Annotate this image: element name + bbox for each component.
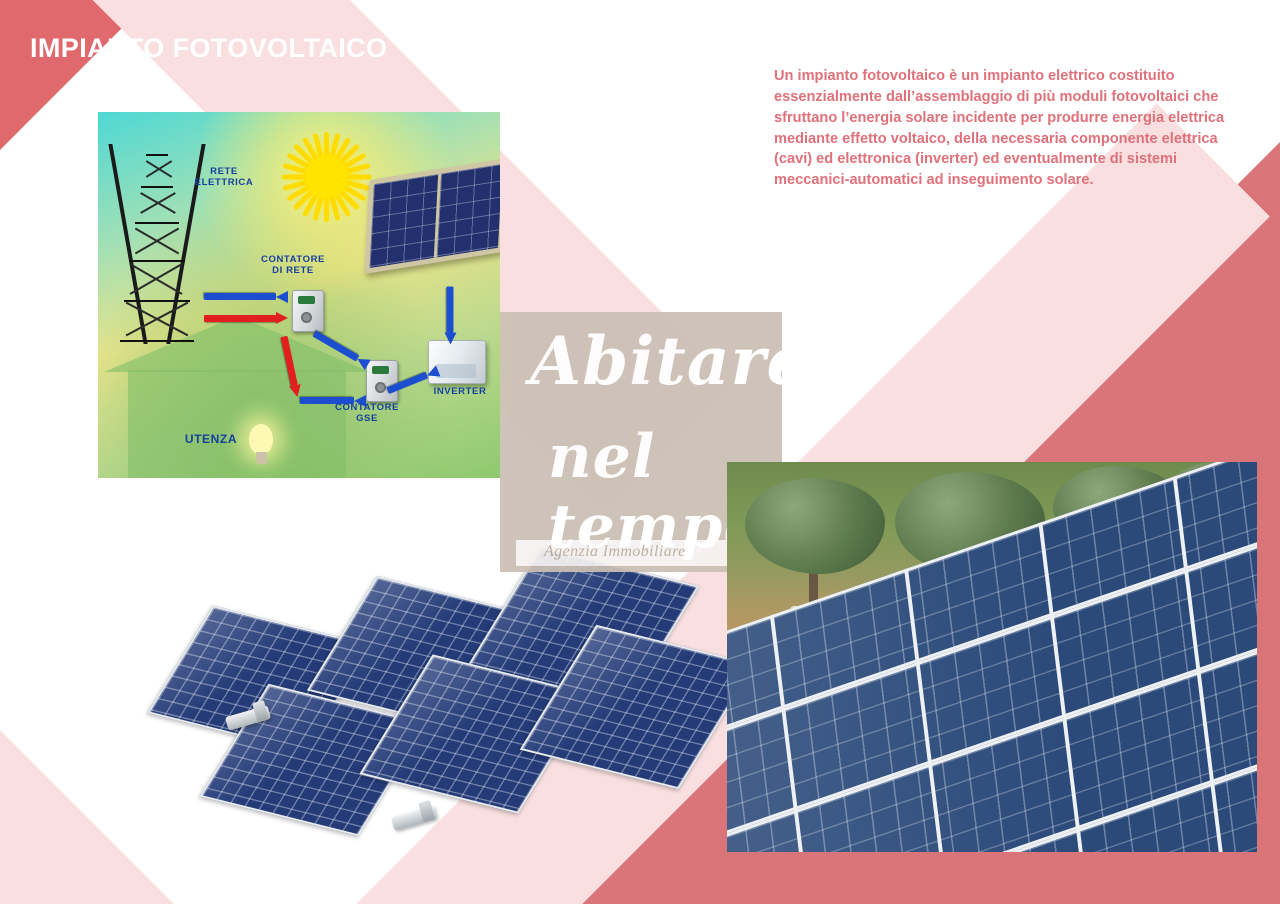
light-bulb-icon (246, 424, 276, 468)
arrow-pv-to-inverter (444, 287, 457, 345)
diagram-label-load: UTENZA (176, 432, 246, 446)
arrow-grid-to-meter (204, 312, 288, 325)
sun-icon (274, 124, 380, 230)
diagram-label-grid: RETE ELETTRICA (184, 166, 264, 189)
intro-paragraph: Un impianto fotovoltaico è un impianto e… (774, 66, 1244, 191)
rooftop-installation-photo (727, 462, 1257, 852)
page-title: IMPIANTO FOTOVOLTAICO (30, 33, 387, 64)
transmission-pylon-icon (120, 144, 194, 344)
solar-panel-array-photo (170, 545, 690, 865)
arrow-meter-to-grid (204, 290, 288, 303)
diagram-label-grid-meter: CONTATORE DI RETE (250, 254, 336, 277)
logo-tagline: Agenzia Immobiliare (544, 543, 686, 561)
slide-canvas: IMPIANTO FOTOVOLTAICO Un impianto fotovo… (0, 0, 1280, 904)
pv-module-icon (364, 158, 500, 274)
grid-meter-icon (292, 290, 324, 332)
diagram-label-gse-meter: CONTATORE GSE (324, 402, 410, 425)
logo-line-1: Abitare (530, 322, 809, 400)
photovoltaic-system-diagram: RETE ELETTRICA CONTATORE DI RETE CONTATO… (98, 112, 500, 478)
diagram-label-inverter: INVERTER (424, 386, 496, 397)
house-silhouette-icon (128, 370, 346, 478)
